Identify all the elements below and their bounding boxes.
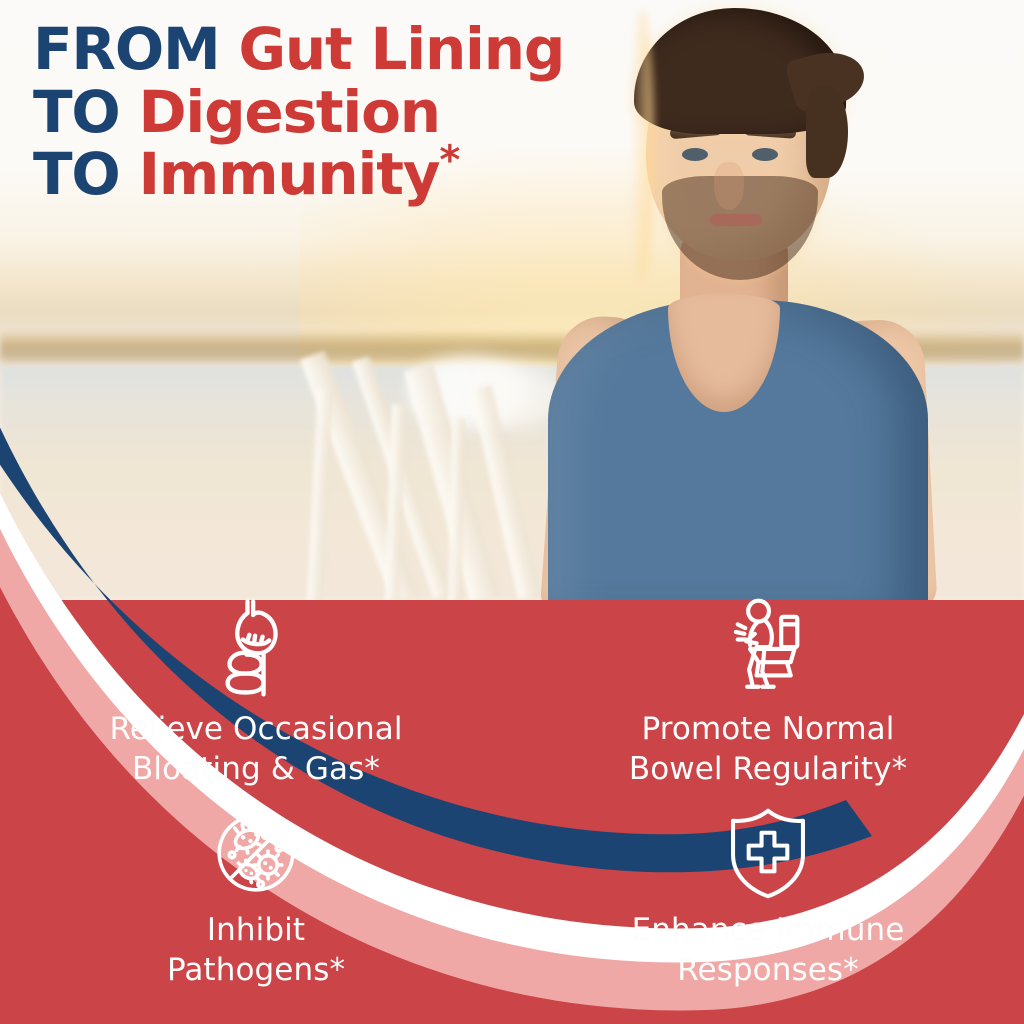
headline-line-3: TO Immunity* xyxy=(33,143,564,206)
stomach-intestines-icon xyxy=(208,596,304,700)
benefits-grid: Relieve Occasional Bloating & Gas* xyxy=(0,588,1024,1024)
subject-hair-side xyxy=(806,86,848,178)
benefit-item-pathogens: Inhibit Pathogens* xyxy=(0,805,512,1010)
benefit-item-regularity: Promote Normal Bowel Regularity* xyxy=(512,596,1024,801)
headline-from: FROM xyxy=(33,15,220,83)
subject-eye-left xyxy=(682,148,708,161)
subject-nose xyxy=(714,162,744,210)
benefit-item-bloating: Relieve Occasional Bloating & Gas* xyxy=(0,596,512,801)
headline-line-1: FROM Gut Lining xyxy=(33,18,564,81)
benefit-label-bloating: Relieve Occasional Bloating & Gas* xyxy=(109,710,402,789)
headline-gut-lining: Gut Lining xyxy=(239,15,565,83)
subject-mouth xyxy=(710,214,762,226)
shield-cross-icon xyxy=(722,805,814,901)
headline-to-1: TO xyxy=(33,78,119,146)
subject-rim-light xyxy=(630,10,654,280)
benefit-label-regularity: Promote Normal Bowel Regularity* xyxy=(629,710,907,789)
headline-immunity: Immunity xyxy=(138,140,439,208)
headline-line-2: TO Digestion xyxy=(33,81,564,144)
benefit-label-pathogens: Inhibit Pathogens* xyxy=(167,911,345,990)
benefit-item-immune: Enhance Immune Responses* xyxy=(512,805,1024,1010)
promo-poster: FROM Gut Lining TO Digestion TO Immunity… xyxy=(0,0,1024,1024)
benefit-label-immune: Enhance Immune Responses* xyxy=(632,911,905,990)
person-on-toilet-icon xyxy=(720,596,816,700)
subject-eye-right xyxy=(752,148,778,161)
headline-asterisk: * xyxy=(439,138,459,184)
headline-to-2: TO xyxy=(33,140,119,208)
page-title: FROM Gut Lining TO Digestion TO Immunity… xyxy=(33,18,564,206)
headline-digestion: Digestion xyxy=(138,78,439,146)
no-pathogens-icon xyxy=(210,805,302,901)
hero-subject-man xyxy=(538,0,938,600)
subject-tank-top xyxy=(548,300,928,600)
